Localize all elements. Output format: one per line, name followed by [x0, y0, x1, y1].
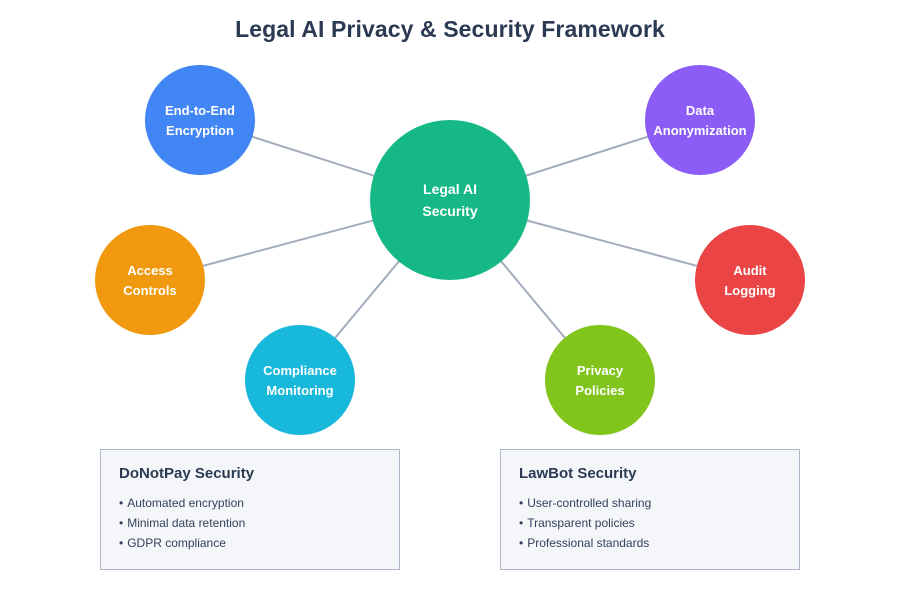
- node-circle-access-controls[interactable]: [95, 225, 205, 335]
- panel-bullet-item: •Transparent policies: [519, 517, 781, 529]
- bullet-dot-icon: •: [119, 496, 123, 510]
- node-label-compliance-monitoring-line2: Monitoring: [266, 383, 333, 398]
- panel-bullet-item: •Automated encryption: [119, 497, 381, 509]
- node-circle-legal-ai-security[interactable]: [370, 120, 530, 280]
- node-label-end-to-end-encryption-line2: Encryption: [166, 123, 234, 138]
- node-data-anonymization[interactable]: DataAnonymization: [645, 65, 755, 175]
- panel-bullet-text: Professional standards: [527, 536, 649, 550]
- panel-title-lawbot-security: LawBot Security: [519, 466, 781, 483]
- node-label-legal-ai-security-line2: Security: [422, 203, 477, 219]
- panel-bullet-text: Minimal data retention: [127, 516, 245, 530]
- node-label-access-controls-line2: Controls: [123, 283, 176, 298]
- panel-title-donotpay-security: DoNotPay Security: [119, 466, 381, 483]
- node-label-audit-logging-line2: Logging: [724, 283, 775, 298]
- panel-bullet-text: User-controlled sharing: [527, 496, 651, 510]
- node-label-compliance-monitoring-line1: Compliance: [263, 363, 337, 378]
- bullet-dot-icon: •: [519, 496, 523, 510]
- panel-bullet-item: •Professional standards: [519, 537, 781, 549]
- panel-bullet-item: •GDPR compliance: [119, 537, 381, 549]
- panel-bullet-text: Automated encryption: [127, 496, 244, 510]
- diagram-canvas: Legal AI Privacy & Security Framework En…: [0, 0, 900, 600]
- panel-bullet-item: •User-controlled sharing: [519, 497, 781, 509]
- bullet-dot-icon: •: [119, 516, 123, 530]
- info-panel-donotpay-security: DoNotPay Security•Automated encryption•M…: [100, 449, 400, 570]
- node-label-access-controls-line1: Access: [127, 263, 173, 278]
- panel-bullet-item: •Minimal data retention: [119, 517, 381, 529]
- node-circle-data-anonymization[interactable]: [645, 65, 755, 175]
- node-compliance-monitoring[interactable]: ComplianceMonitoring: [245, 325, 355, 435]
- node-circle-end-to-end-encryption[interactable]: [145, 65, 255, 175]
- node-label-privacy-policies-line2: Policies: [575, 383, 624, 398]
- panel-bullet-text: Transparent policies: [527, 516, 635, 530]
- node-label-data-anonymization-line1: Data: [686, 103, 715, 118]
- panel-bullet-list-lawbot-security: •User-controlled sharing•Transparent pol…: [519, 497, 781, 549]
- node-end-to-end-encryption[interactable]: End-to-EndEncryption: [145, 65, 255, 175]
- node-label-privacy-policies-line1: Privacy: [577, 363, 624, 378]
- bullet-dot-icon: •: [119, 536, 123, 550]
- bullet-dot-icon: •: [519, 536, 523, 550]
- info-panel-lawbot-security: LawBot Security•User-controlled sharing•…: [500, 449, 800, 570]
- node-legal-ai-security[interactable]: Legal AISecurity: [370, 120, 530, 280]
- node-access-controls[interactable]: AccessControls: [95, 225, 205, 335]
- node-privacy-policies[interactable]: PrivacyPolicies: [545, 325, 655, 435]
- panel-bullet-text: GDPR compliance: [127, 536, 226, 550]
- node-label-end-to-end-encryption-line1: End-to-End: [165, 103, 235, 118]
- node-label-legal-ai-security-line1: Legal AI: [423, 181, 477, 197]
- bullet-dot-icon: •: [519, 516, 523, 530]
- node-label-data-anonymization-line2: Anonymization: [653, 123, 746, 138]
- panel-bullet-list-donotpay-security: •Automated encryption•Minimal data reten…: [119, 497, 381, 549]
- node-circle-privacy-policies[interactable]: [545, 325, 655, 435]
- node-circle-audit-logging[interactable]: [695, 225, 805, 335]
- node-circle-compliance-monitoring[interactable]: [245, 325, 355, 435]
- node-label-audit-logging-line1: Audit: [733, 263, 767, 278]
- node-audit-logging[interactable]: AuditLogging: [695, 225, 805, 335]
